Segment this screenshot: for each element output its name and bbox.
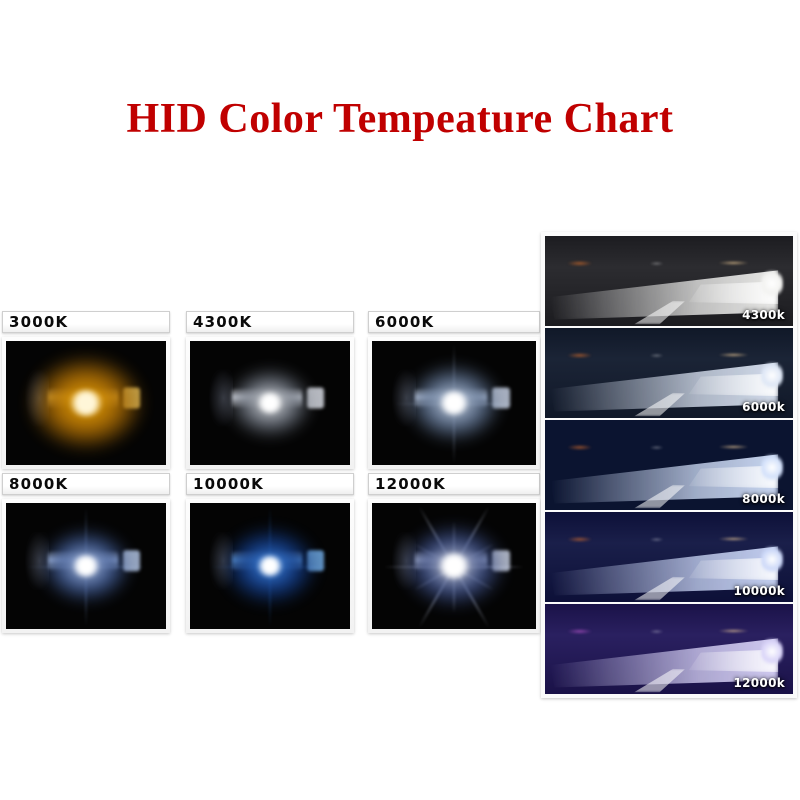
- road-beam-photo-stack: 4300k 6000k 8000k 10000k: [541, 232, 797, 698]
- bulb-arc-core: [257, 556, 283, 577]
- headlamp-source: [761, 454, 783, 481]
- bulb-label-4300k: 4300K: [186, 311, 354, 333]
- bulb-frame-8000k: [2, 499, 170, 633]
- bulb-card-12000k: 12000K: [368, 473, 540, 633]
- road-panel-6000k: 6000k: [545, 328, 793, 418]
- bulb-card-6000k: 6000K: [368, 311, 540, 469]
- bulb-label-10000k: 10000K: [186, 473, 354, 495]
- bulb-photo-8000k: [6, 503, 166, 629]
- bulb-arc-core: [257, 393, 283, 414]
- road-label-4300k: 4300k: [742, 308, 785, 322]
- bulb-frame-4300k: [186, 337, 354, 469]
- headlamp-source: [761, 270, 783, 297]
- road-panel-10000k: 10000k: [545, 512, 793, 602]
- road-label-8000k: 8000k: [742, 492, 785, 506]
- bulb-card-4300k: 4300K: [186, 311, 354, 469]
- city-lights-layer: [545, 350, 793, 359]
- city-lights-layer: [545, 626, 793, 635]
- headlamp-source: [761, 638, 783, 665]
- bulb-frame-6000k: [368, 337, 540, 469]
- bulb-card-8000k: 8000K: [2, 473, 170, 633]
- road-label-12000k: 12000k: [733, 676, 785, 690]
- road-label-10000k: 10000k: [733, 584, 785, 598]
- headlamp-source: [761, 362, 783, 389]
- city-lights-layer: [545, 442, 793, 451]
- bulb-frame-3000k: [2, 337, 170, 469]
- bulb-arc-core: [69, 390, 103, 417]
- bulb-photo-3000k: [6, 341, 166, 465]
- bulb-photo-10000k: [190, 503, 350, 629]
- bulb-label-8000k: 8000K: [2, 473, 170, 495]
- road-label-6000k: 6000k: [742, 400, 785, 414]
- page-title: HID Color Tempeature Chart: [0, 95, 800, 143]
- road-panel-8000k: 8000k: [545, 420, 793, 510]
- bulb-card-10000k: 10000K: [186, 473, 354, 633]
- bulb-card-3000k: 3000K: [2, 311, 170, 469]
- bulb-label-3000k: 3000K: [2, 311, 170, 333]
- bulb-photo-4300k: [190, 341, 350, 465]
- bulb-label-6000k: 6000K: [368, 311, 540, 333]
- road-panel-4300k: 4300k: [545, 236, 793, 326]
- bulb-frame-10000k: [186, 499, 354, 633]
- bulb-frame-12000k: [368, 499, 540, 633]
- bulb-photo-6000k: [372, 341, 536, 465]
- bulb-arc-core: [438, 553, 470, 579]
- bulb-arc-core: [72, 555, 100, 577]
- road-panel-12000k: 12000k: [545, 604, 793, 694]
- city-lights-layer: [545, 258, 793, 267]
- bulb-label-12000k: 12000K: [368, 473, 540, 495]
- bulb-arc-core: [439, 391, 469, 415]
- bulb-panel-grid: 3000K 4300K 6000K 8000K 10000K 12000K: [2, 311, 538, 641]
- headlamp-source: [761, 546, 783, 573]
- bulb-photo-12000k: [372, 503, 536, 629]
- city-lights-layer: [545, 534, 793, 543]
